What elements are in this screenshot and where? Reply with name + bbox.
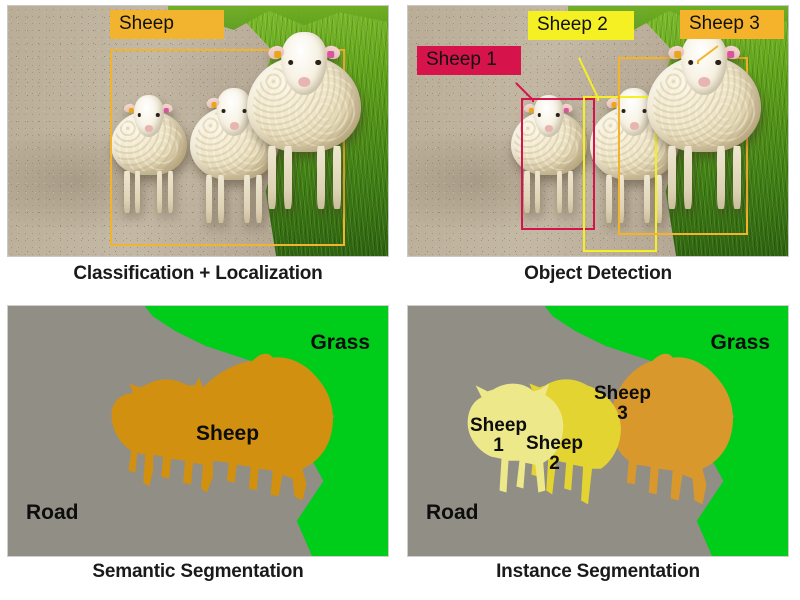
region-label-road: Road bbox=[26, 502, 79, 524]
caption-classification-localization: Classification + Localization bbox=[0, 263, 396, 285]
label-sheep-2[interactable]: Sheep 2 bbox=[528, 11, 634, 40]
panel-object-detection: Sheep 1 Sheep 2 Sheep 3 Object Detection bbox=[400, 0, 796, 300]
instance-label-sheep-1-number: 1 bbox=[493, 435, 504, 456]
instance-label-sheep-2-number: 2 bbox=[549, 453, 560, 474]
photo-classification-localization: Sheep bbox=[7, 5, 389, 257]
label-sheep-1[interactable]: Sheep 1 bbox=[417, 46, 521, 75]
caption-semantic-segmentation: Semantic Segmentation bbox=[0, 561, 396, 583]
panel-classification-localization: Sheep Classification + Localization bbox=[0, 0, 396, 300]
region-label-road: Road bbox=[426, 502, 479, 524]
region-label-grass: Grass bbox=[310, 332, 370, 354]
sheep-ewe-right bbox=[247, 56, 361, 206]
figure-root: Sheep Classification + Localization bbox=[0, 0, 800, 600]
segmentation-map-instance: Road Grass Sheep 1 Sheep 2 Sheep 3 bbox=[408, 306, 788, 556]
instance-label-sheep-1: Sheep 1 bbox=[470, 416, 527, 456]
instance-label-sheep-2-word: Sheep bbox=[526, 433, 583, 454]
region-label-sheep: Sheep bbox=[196, 423, 259, 445]
sheep-ewe-right bbox=[647, 56, 761, 206]
caption-object-detection: Object Detection bbox=[400, 263, 796, 285]
segmentation-map-semantic: Road Grass Sheep bbox=[8, 306, 388, 556]
region-label-grass: Grass bbox=[710, 332, 770, 354]
segmap-instance: Road Grass Sheep 1 Sheep 2 Sheep 3 bbox=[407, 305, 789, 557]
label-sheep-3[interactable]: Sheep 3 bbox=[680, 10, 784, 39]
caption-instance-segmentation: Instance Segmentation bbox=[400, 561, 796, 583]
label-sheep[interactable]: Sheep bbox=[110, 10, 224, 39]
segmap-semantic: Road Grass Sheep bbox=[7, 305, 389, 557]
panel-instance-segmentation: Road Grass Sheep 1 Sheep 2 Sheep 3 Insta… bbox=[400, 300, 796, 600]
instance-label-sheep-3-number: 3 bbox=[617, 403, 628, 424]
panel-semantic-segmentation: Road Grass Sheep Semantic Segmentation bbox=[0, 300, 396, 600]
photo-object-detection: Sheep 1 Sheep 2 Sheep 3 bbox=[407, 5, 789, 257]
instance-label-sheep-3-word: Sheep bbox=[594, 383, 651, 404]
instance-label-sheep-1-word: Sheep bbox=[470, 415, 527, 436]
instance-label-sheep-2: Sheep 2 bbox=[526, 434, 583, 474]
instance-label-sheep-3: Sheep 3 bbox=[594, 384, 651, 424]
instance-sheep-3[interactable] bbox=[611, 354, 733, 505]
